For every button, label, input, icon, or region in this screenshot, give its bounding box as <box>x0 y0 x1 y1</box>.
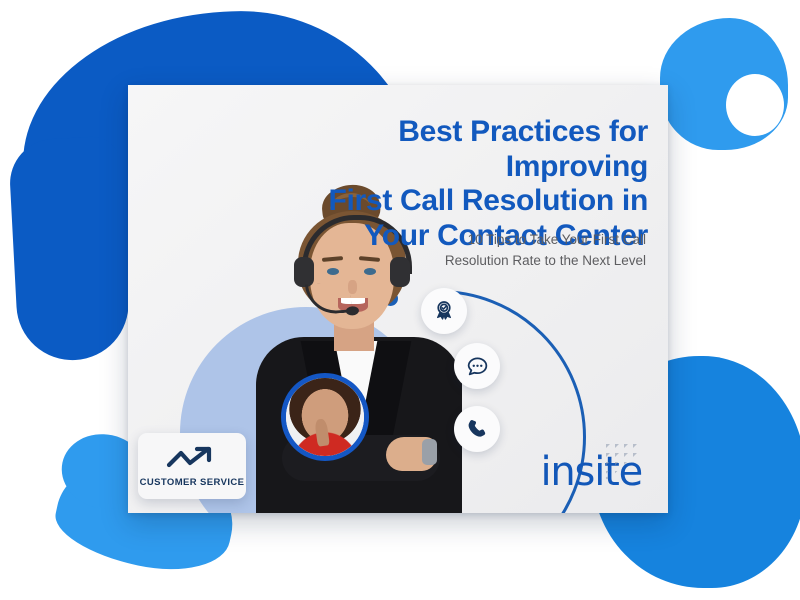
phone-chip[interactable] <box>454 406 500 452</box>
phone-handset-icon <box>465 417 489 441</box>
background-blob-top-right <box>660 18 788 150</box>
headline-line-1: Best Practices for Improving <box>248 115 648 184</box>
agent-wristwatch <box>422 439 437 465</box>
caller-portrait-photo <box>281 373 369 461</box>
award-chip[interactable] <box>421 288 467 334</box>
subhead-line-1: 10 Tips to Take Your First Call <box>356 230 646 251</box>
halftone-dots-icon <box>604 441 644 481</box>
canvas: Best Practices for Improving First Call … <box>0 0 800 600</box>
chat-chip[interactable] <box>454 343 500 389</box>
background-blob-top-right-notch <box>726 74 784 136</box>
chat-bubble-icon <box>465 354 490 379</box>
status-badge-label: CUSTOMER SERVICE <box>140 477 245 488</box>
headline-line-2: First Call Resolution in <box>248 184 648 219</box>
growth-arrow-icon <box>166 445 218 477</box>
status-badge[interactable]: CUSTOMER SERVICE <box>138 433 246 499</box>
subhead-line-2: Resolution Rate to the Next Level <box>356 251 646 272</box>
brand-logo: insite <box>540 455 642 489</box>
page-subtitle: 10 Tips to Take Your First Call Resoluti… <box>356 230 646 272</box>
headset-microphone <box>305 281 352 315</box>
ebook-cover-card[interactable]: Best Practices for Improving First Call … <box>128 85 668 513</box>
headset-earcup-left <box>294 257 314 287</box>
award-ribbon-icon <box>431 298 457 324</box>
